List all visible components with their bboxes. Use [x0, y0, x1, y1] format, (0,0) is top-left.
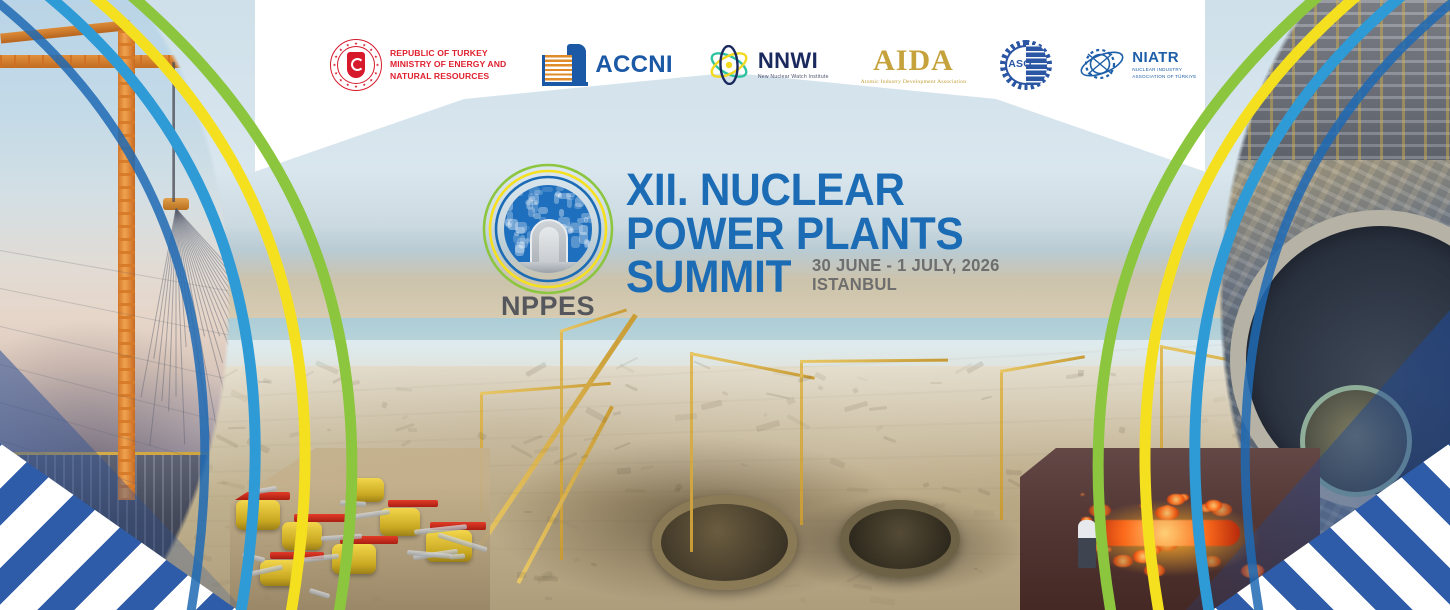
- crane-mast: [118, 30, 135, 500]
- logo-republic-of-turkey-ministry[interactable]: REPUBLIC OF TURKEY MINISTRY OF ENERGY AN…: [330, 39, 506, 91]
- logo-nnwi[interactable]: NNWI New Nuclear Watch Institute: [707, 45, 829, 85]
- event-location: ISTANBUL: [812, 275, 1000, 295]
- title-line-1: XII. NUCLEAR: [626, 168, 986, 212]
- gear-orbit-icon: [1078, 42, 1126, 88]
- logo-accni[interactable]: ACCNI: [542, 44, 673, 86]
- aso-wordmark: ASO: [1008, 58, 1031, 70]
- event-banner: REPUBLIC OF TURKEY MINISTRY OF ENERGY AN…: [0, 0, 1450, 610]
- crane-counter-jib: [0, 20, 130, 44]
- aida-subtitle: Atomic Industry Development Association: [861, 79, 967, 85]
- title-line-3: SUMMIT: [626, 255, 791, 299]
- photo-furnace: [1020, 448, 1320, 610]
- nnwi-subtitle: New Nuclear Watch Institute: [758, 74, 829, 80]
- nppes-emblem: NPPES: [482, 163, 622, 313]
- title-line-2: POWER PLANTS: [626, 212, 986, 256]
- gear-globe-icon: ASO: [1000, 40, 1052, 90]
- reactor-pit-primary: [652, 495, 797, 590]
- event-meta: 30 JUNE - 1 JULY, 2026 ISTANBUL: [812, 256, 1010, 299]
- title-block: XII. NUCLEAR POWER PLANTS SUMMIT 30 JUNE…: [626, 168, 1009, 299]
- turkey-seal-icon: [330, 39, 382, 91]
- accni-wordmark: ACCNI: [595, 51, 673, 79]
- cooling-tower-icon: [542, 44, 588, 86]
- niatr-wordmark: NIATR: [1132, 50, 1196, 65]
- crane-jib: [0, 55, 300, 68]
- event-dates: 30 JUNE - 1 JULY, 2026: [812, 256, 1000, 276]
- ministry-name-text: REPUBLIC OF TURKEY MINISTRY OF ENERGY AN…: [390, 48, 506, 83]
- logo-niatr[interactable]: NIATR NUCLEAR INDUSTRY ASSOCIATION OF TÜ…: [1078, 42, 1196, 88]
- nppes-wordmark: NPPES: [482, 291, 614, 322]
- aida-wordmark: AIDA: [873, 46, 954, 76]
- logo-aso[interactable]: ASO: [1000, 40, 1052, 90]
- atom-orbit-icon: [707, 45, 751, 85]
- nnwi-wordmark: NNWI: [758, 50, 829, 72]
- logo-aida[interactable]: AIDA Atomic Industry Development Associa…: [861, 46, 967, 85]
- nppes-dome-emblem-icon: [504, 185, 592, 273]
- partner-logo-bar: REPUBLIC OF TURKEY MINISTRY OF ENERGY AN…: [330, 34, 1196, 96]
- reactor-pit-secondary: [840, 500, 960, 578]
- worker-figure: [1078, 520, 1096, 568]
- niatr-subtitle: NUCLEAR INDUSTRY ASSOCIATION OF TÜRKIYE: [1132, 67, 1196, 81]
